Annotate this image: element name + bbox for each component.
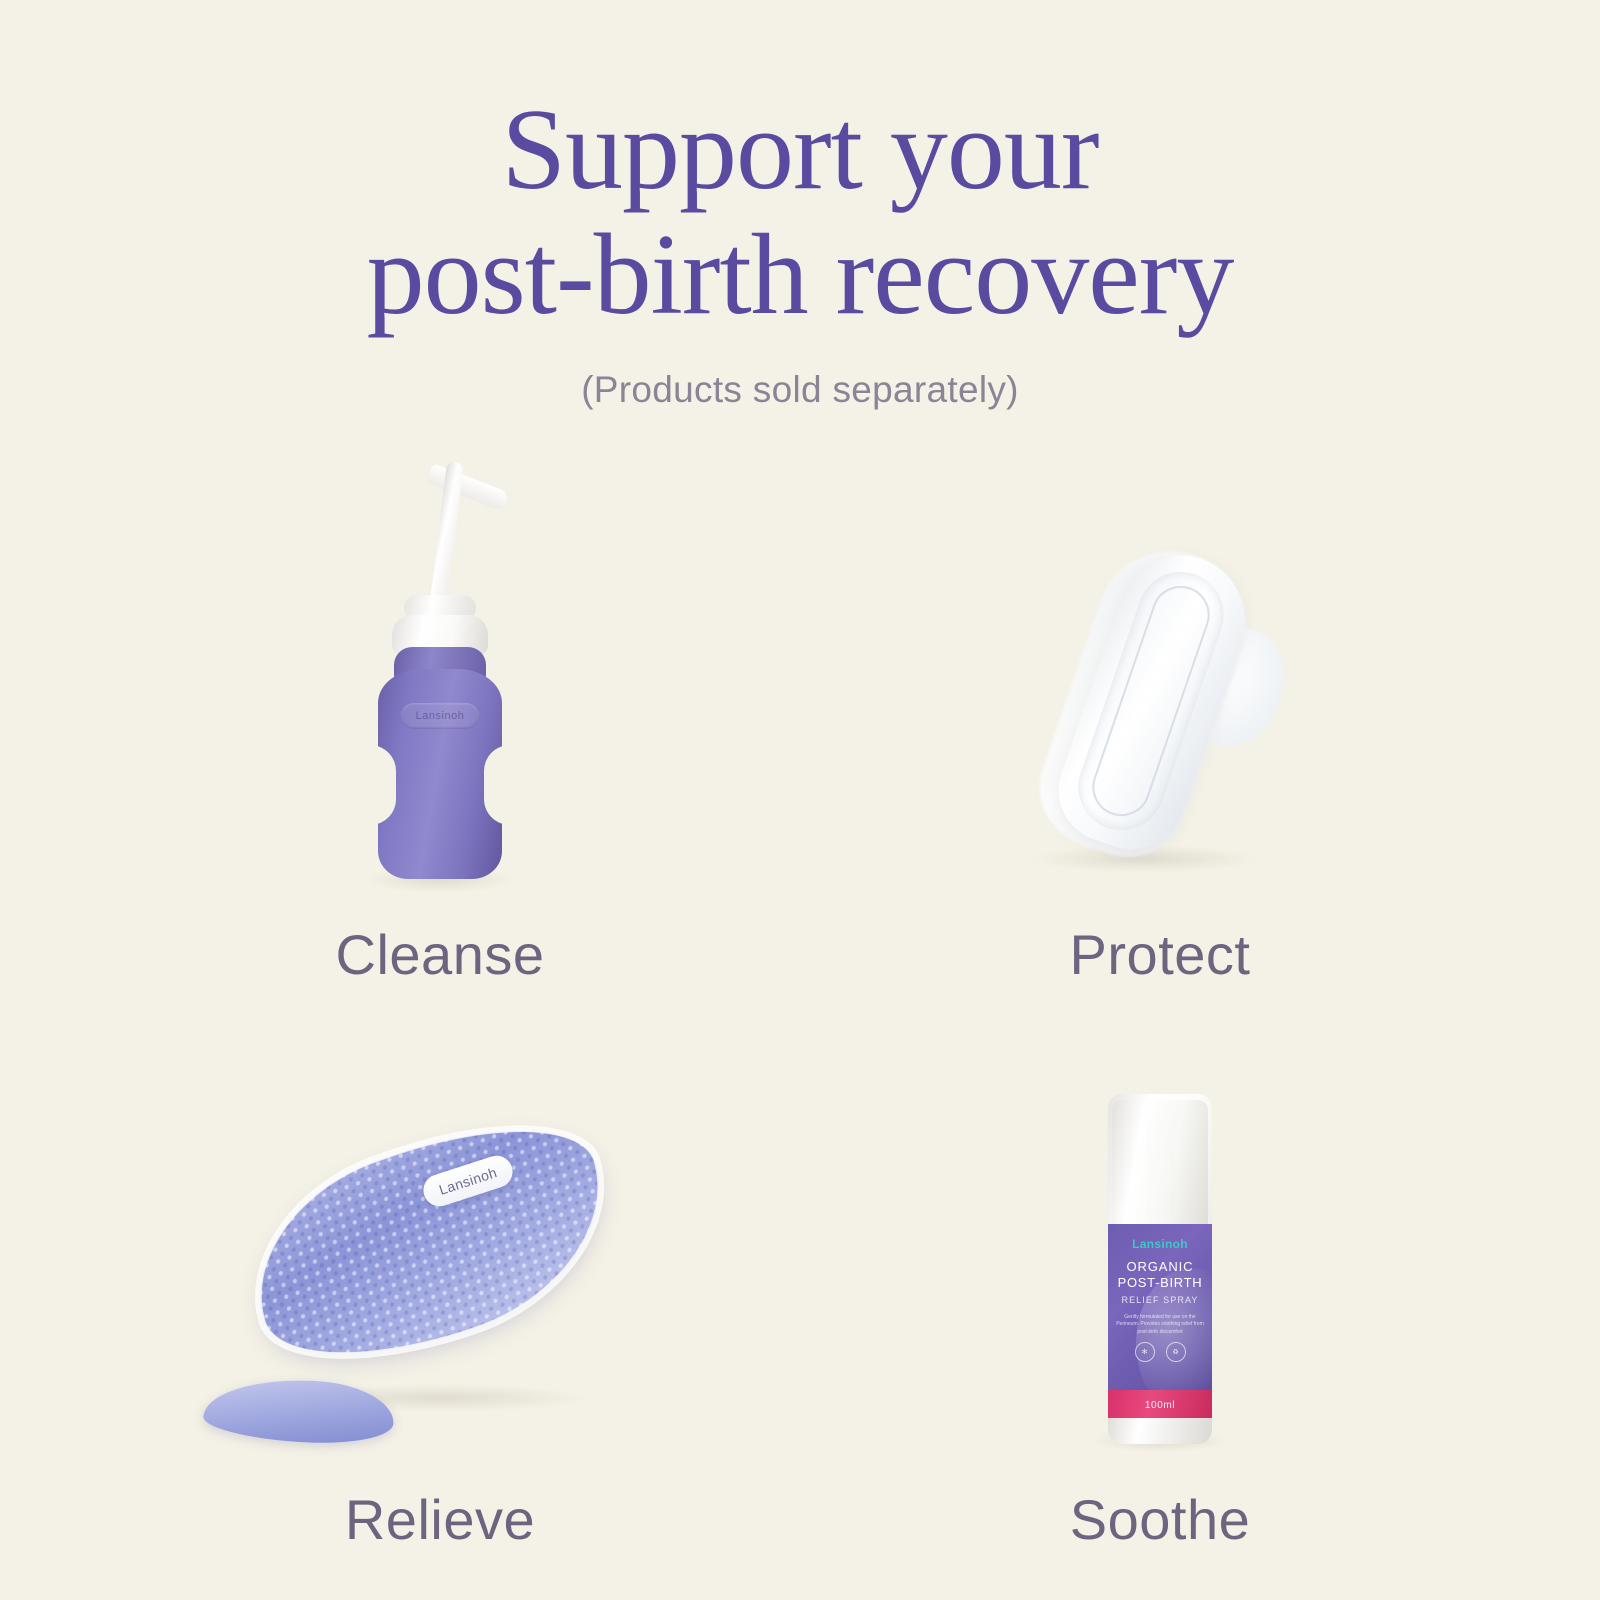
headline-line-2: post-birth recovery [0,213,1600,338]
subtitle-disclaimer: (Products sold separately) [0,369,1600,411]
product-cell-cleanse[interactable]: Lansinoh Cleanse [80,430,800,995]
peri-bottle-illustration: Lansinoh [80,467,800,887]
relief-spray-description: Gently formulated for use on the Perineu… [1116,1314,1204,1337]
cooling-gel-pad-body [238,1091,621,1394]
product-caption-cleanse: Cleanse [336,915,545,995]
cooling-gel-pad-illustration: Lansinoh [80,1032,800,1452]
product-caption-soothe: Soothe [1070,1480,1251,1560]
product-cell-protect[interactable]: Protect [800,430,1520,995]
product-cell-relieve[interactable]: Lansinoh Relieve [80,995,800,1560]
page-title: Support your post-birth recovery [0,88,1600,339]
recycle-icon: ♻ [1166,1342,1186,1362]
peri-bottle: Lansinoh [330,467,550,887]
relief-spray-label-line-1: ORGANIC [1127,1259,1194,1275]
peri-bottle-spout-tip [426,463,510,511]
relief-spray-certifications: ✻ ♻ [1135,1342,1186,1362]
relief-spray-volume-band: 100ml [1108,1390,1212,1420]
product-grid: Lansinoh Cleanse Protect [80,430,1520,1560]
relief-spray-label-line-3: RELIEF SPRAY [1121,1295,1198,1305]
relief-spray-bottle: Lansinoh ORGANIC POST-BIRTH RELIEF SPRAY… [1060,1050,1260,1450]
cooling-gel-pad: Lansinoh [210,1108,670,1438]
product-caption-protect: Protect [1070,915,1251,995]
relief-spray-illustration: Lansinoh ORGANIC POST-BIRTH RELIEF SPRAY… [800,1032,1520,1452]
relief-spray-label: Lansinoh ORGANIC POST-BIRTH RELIEF SPRAY… [1108,1224,1212,1392]
product-cell-soothe[interactable]: Lansinoh ORGANIC POST-BIRTH RELIEF SPRAY… [800,995,1520,1560]
header: Support your post-birth recovery (Produc… [0,0,1600,411]
maternity-pad-illustration [800,467,1520,887]
peri-bottle-waist-right [484,745,510,825]
maternity-pad [950,477,1370,897]
relief-spray-base [1108,1418,1212,1444]
product-caption-relieve: Relieve [345,1480,535,1560]
headline-line-1: Support your [502,86,1099,214]
relief-spray-label-line-2: POST-BIRTH [1118,1275,1203,1291]
cooling-gel-pad-rim [231,1083,628,1402]
relief-spray-brand: Lansinoh [1132,1237,1188,1251]
peri-bottle-brand-emboss: Lansinoh [401,703,479,729]
promo-image: Support your post-birth recovery (Produc… [0,0,1600,1600]
organic-leaf-icon: ✻ [1135,1342,1155,1362]
